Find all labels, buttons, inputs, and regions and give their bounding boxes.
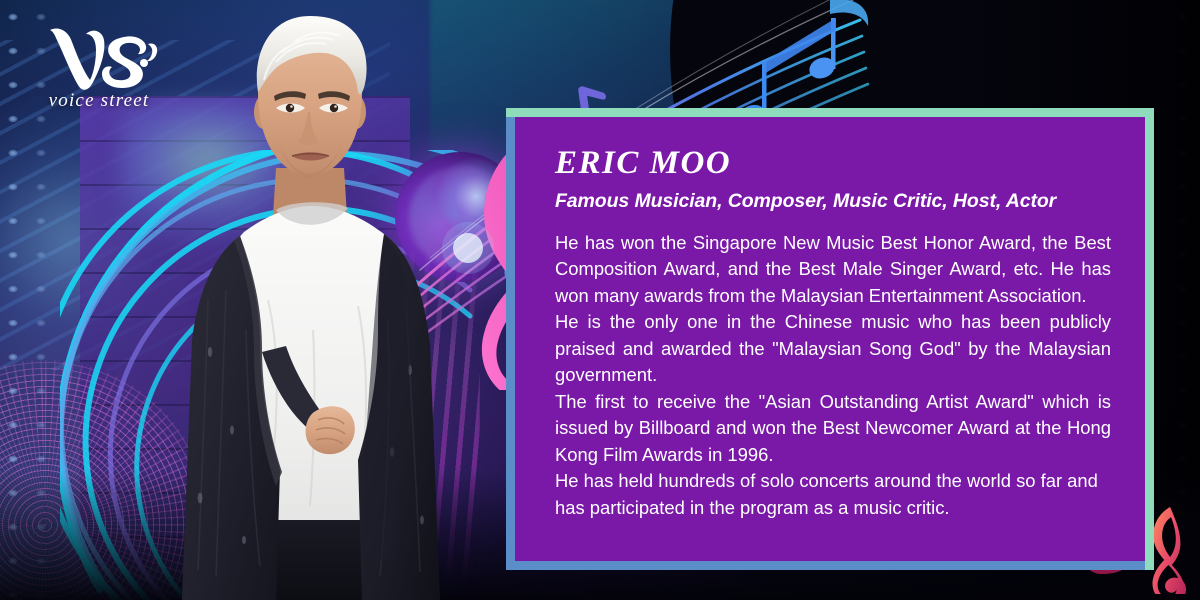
promo-poster: voice street ERIC MOO Famous Musician, C… [0, 0, 1200, 600]
artist-bio: He has won the Singapore New Music Best … [555, 230, 1111, 522]
bio-paragraph: The first to receive the "Asian Outstand… [555, 389, 1111, 469]
artist-name: ERIC MOO [555, 147, 1111, 180]
voice-street-logo[interactable]: voice street [34, 22, 164, 118]
bio-paragraph: He is the only one in the Chinese music … [555, 309, 1111, 389]
logo-wordmark: voice street [34, 90, 164, 112]
artist-roles: Famous Musician, Composer, Music Critic,… [555, 192, 1111, 212]
artist-info-panel: ERIC MOO Famous Musician, Composer, Musi… [506, 108, 1154, 570]
red-treble-clef-icon [1152, 507, 1186, 594]
panel-body: ERIC MOO Famous Musician, Composer, Musi… [515, 117, 1145, 561]
bio-paragraph: He has held hundreds of solo concerts ar… [555, 468, 1111, 521]
eric-moo-portrait [148, 0, 488, 600]
vs-monogram-logo [34, 22, 164, 94]
bio-paragraph: He has won the Singapore New Music Best … [555, 230, 1111, 310]
